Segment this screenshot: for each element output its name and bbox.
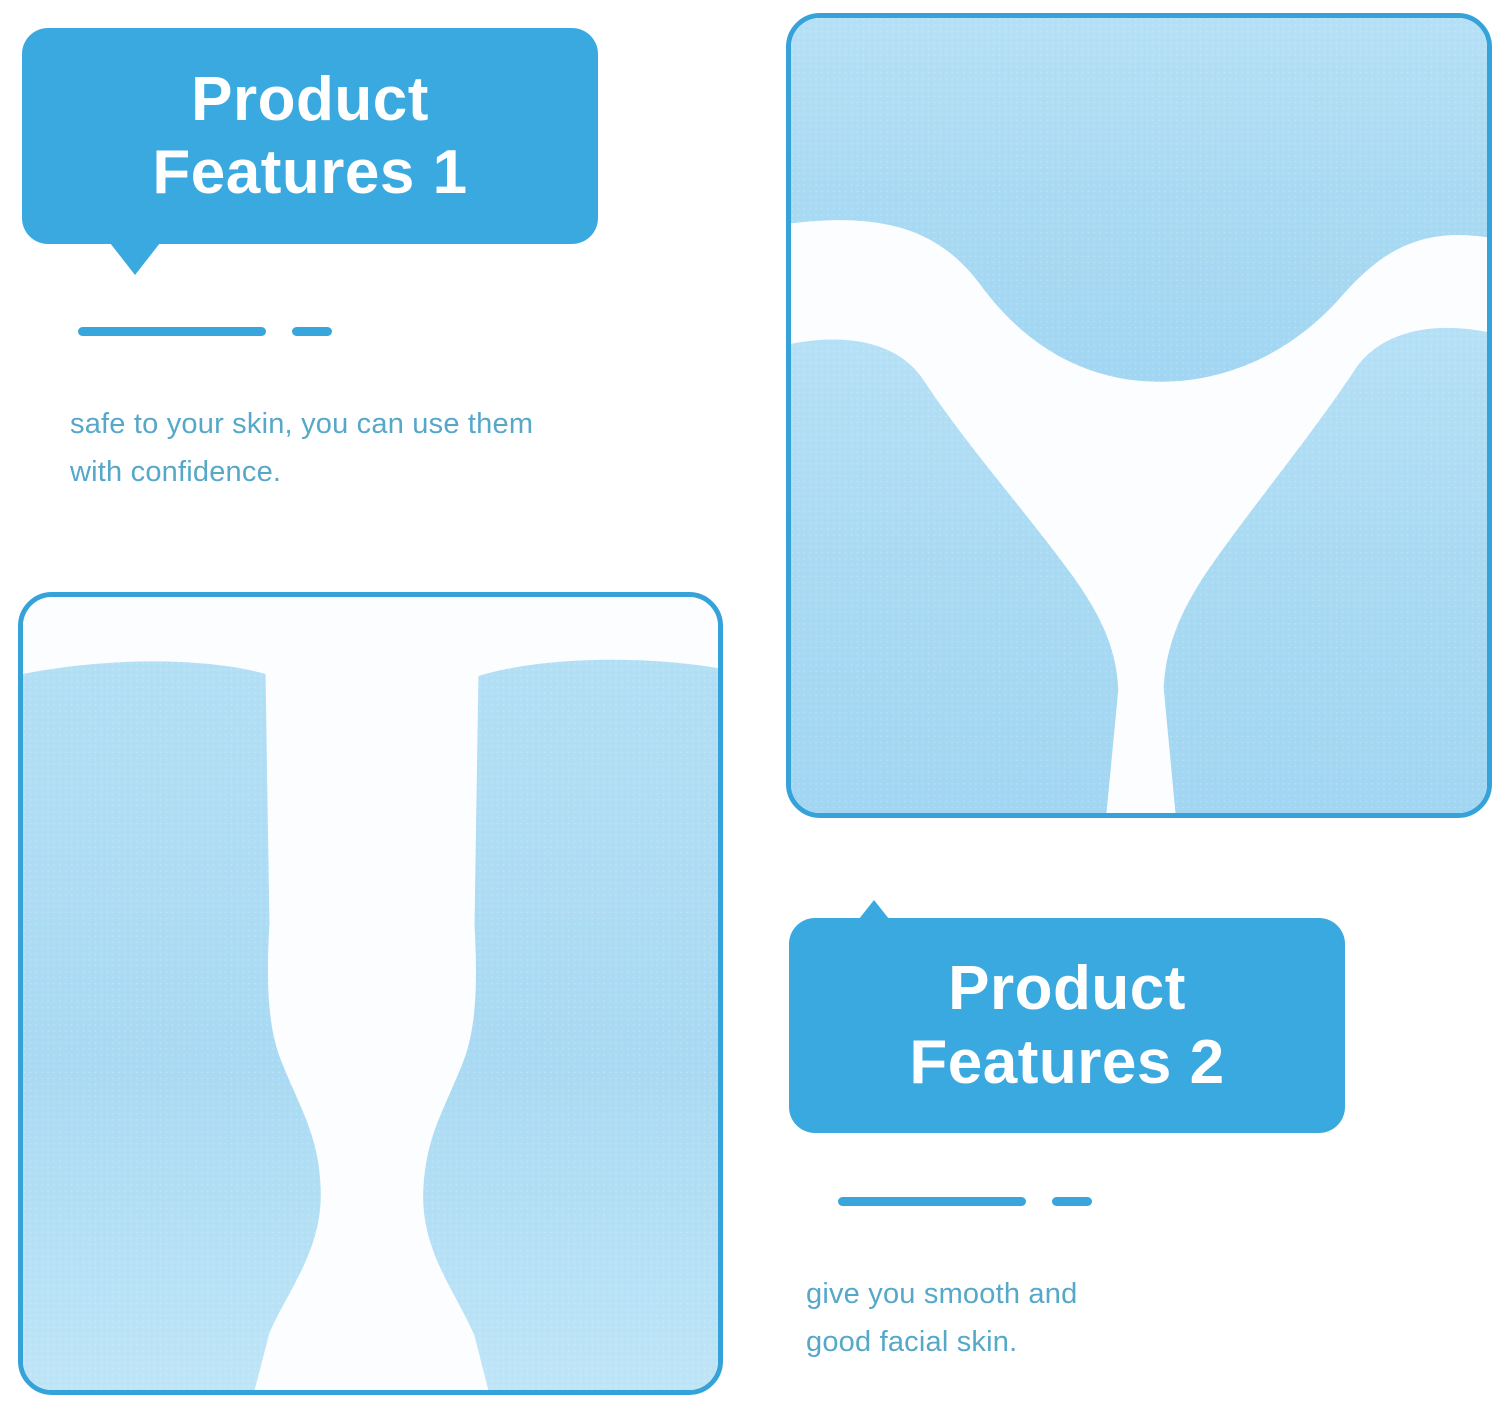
feature-1-divider — [78, 327, 332, 336]
feature-1-caption: safe to your skin, you can use them with… — [70, 400, 670, 496]
divider-long-dash-icon — [838, 1197, 1026, 1206]
product-features-infographic: Product Features 1 safe to your skin, yo… — [0, 0, 1500, 1410]
divider-short-dash-icon — [292, 327, 332, 336]
feature-2-caption: give you smooth and good facial skin. — [806, 1270, 1406, 1366]
feature-1-badge: Product Features 1 — [22, 28, 598, 244]
feature-2-divider — [838, 1197, 1092, 1206]
feature-1-badge-tail-icon — [110, 243, 160, 275]
x-shape-tape-illustration — [791, 18, 1487, 813]
feature-1-product-photo — [18, 592, 723, 1395]
t-shape-tape-illustration — [23, 597, 718, 1390]
divider-long-dash-icon — [78, 327, 266, 336]
feature-2-product-photo — [786, 13, 1492, 818]
feature-1-badge-label: Product Features 1 — [152, 63, 467, 209]
feature-2-badge: Product Features 2 — [789, 918, 1345, 1133]
feature-2-badge-label: Product Features 2 — [909, 952, 1224, 1098]
divider-short-dash-icon — [1052, 1197, 1092, 1206]
